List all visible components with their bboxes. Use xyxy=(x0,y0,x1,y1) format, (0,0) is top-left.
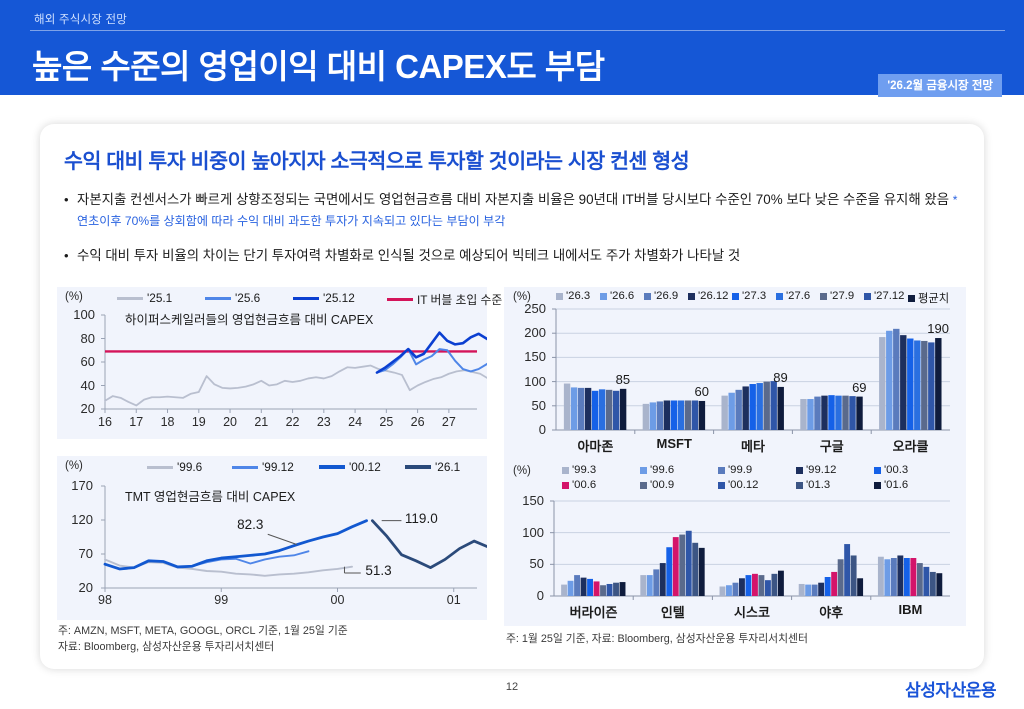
legend-label: '99.6 xyxy=(177,460,202,474)
x-axis-tick: 01 xyxy=(442,593,466,607)
status-badge: '26.2월 금융시장 전망 xyxy=(878,74,1002,97)
legend-label: 평균치 xyxy=(918,290,949,306)
y-axis-tick: 150 xyxy=(510,493,544,508)
legend-label: '26.6 xyxy=(610,290,634,302)
legend-item: '99.12 xyxy=(796,464,836,476)
legend-swatch-icon xyxy=(874,482,881,489)
y-axis-tick: 100 xyxy=(512,374,546,389)
header-kicker: 해외 주식시장 전망 xyxy=(34,11,127,27)
x-axis-tick: 25 xyxy=(374,415,398,429)
page-number: 12 xyxy=(0,681,1024,693)
chart-bigtech-capex-bars: (%) '26.3'26.6'26.9'26.12'27.3'27.6'27.9… xyxy=(504,287,966,462)
bar-value-label: 60 xyxy=(685,384,719,399)
legend-swatch-icon xyxy=(820,293,827,300)
x-axis-tick: 98 xyxy=(93,593,117,607)
x-axis-tick: 27 xyxy=(437,415,461,429)
legend-label: '99.12 xyxy=(262,460,294,474)
y-axis-tick: 60 xyxy=(61,354,95,369)
page-title: 높은 수준의 영업이익 대비 CAPEX도 부담 xyxy=(32,40,605,88)
legend-swatch-icon xyxy=(556,293,563,300)
legend-swatch-icon xyxy=(147,466,173,469)
bullet-text-main: 자본지출 컨센서스가 빠르게 상향조정되는 국면에서도 영업현금흐름 대비 자본… xyxy=(77,192,953,207)
bullet-marker: • xyxy=(64,190,69,210)
legend-label: '27.9 xyxy=(830,290,854,302)
bar-value-label: 69 xyxy=(842,380,876,395)
legend-item: '01.3 xyxy=(796,479,830,491)
legend-item: '99.6 xyxy=(147,460,202,474)
x-axis-tick: 20 xyxy=(218,415,242,429)
x-axis-category: 오라클 xyxy=(871,436,950,455)
legend-swatch-icon xyxy=(718,482,725,489)
legend-label: IT 버블 초입 수준 xyxy=(417,291,502,308)
legend-item: '99.12 xyxy=(232,460,294,474)
legend-label: '99.3 xyxy=(572,464,596,476)
legend-item: '26.9 xyxy=(644,290,678,302)
y-axis-tick: 100 xyxy=(510,525,544,540)
legend-item: IT 버블 초입 수준 xyxy=(387,291,502,308)
x-axis-tick: 00 xyxy=(326,593,350,607)
x-axis-category: 메타 xyxy=(714,436,793,455)
bar-value-label: 85 xyxy=(606,372,640,387)
chart-title: TMT 영업현금흐름 대비 CAPEX xyxy=(125,486,295,505)
x-axis-tick: 26 xyxy=(406,415,430,429)
y-axis-tick: 70 xyxy=(59,546,93,561)
legend-label: '26.1 xyxy=(435,460,460,474)
chart-tmt-capex: (%) '99.6'99.12'00.12'26.1 TMT 영업현금흐름 대비… xyxy=(57,456,487,620)
y-axis-unit: (%) xyxy=(65,291,83,303)
legend-item: '00.9 xyxy=(640,479,674,491)
bullet-text: 수익 대비 투자 비율의 차이는 단기 투자여력 차별화로 인식될 것으로 예상… xyxy=(77,246,964,267)
legend-label: '27.6 xyxy=(786,290,810,302)
x-axis-category: 버라이즌 xyxy=(554,602,633,621)
x-axis-tick: 17 xyxy=(124,415,148,429)
x-axis-tick: 18 xyxy=(156,415,180,429)
legend-swatch-icon xyxy=(688,293,695,300)
x-axis-category: 구글 xyxy=(792,436,871,455)
x-axis-category: 야후 xyxy=(792,602,871,621)
legend-label: '01.3 xyxy=(806,479,830,491)
legend-label: '99.6 xyxy=(650,464,674,476)
x-axis-tick: 19 xyxy=(187,415,211,429)
x-axis-tick: 24 xyxy=(343,415,367,429)
x-axis-tick: 16 xyxy=(93,415,117,429)
y-axis-tick: 120 xyxy=(59,512,93,527)
legend-label: '26.3 xyxy=(566,290,590,302)
legend-swatch-icon xyxy=(644,293,651,300)
y-axis-tick: 170 xyxy=(59,478,93,493)
legend-item: '26.1 xyxy=(405,460,460,474)
legend-item: '27.6 xyxy=(776,290,810,302)
data-label-82: 82.3 xyxy=(237,517,263,532)
x-axis-tick: 21 xyxy=(249,415,273,429)
legend-swatch-icon xyxy=(293,297,319,300)
legend-item: '01.6 xyxy=(874,479,908,491)
legend-label: '99.12 xyxy=(806,464,836,476)
chart-title: 하이퍼스케일러들의 영업현금흐름 대비 CAPEX xyxy=(125,309,373,328)
legend-swatch-icon xyxy=(600,293,607,300)
legend-swatch-icon xyxy=(718,467,725,474)
legend-item: 평균치 xyxy=(908,290,949,306)
bullet-text-main: 수익 대비 투자 비율의 차이는 단기 투자여력 차별화로 인식될 것으로 예상… xyxy=(77,248,740,263)
y-axis-tick: 100 xyxy=(61,307,95,322)
legend-swatch-icon xyxy=(864,293,871,300)
legend-swatch-icon xyxy=(405,465,431,469)
bullet-text: 자본지출 컨센서스가 빠르게 상향조정되는 국면에서도 영업현금흐름 대비 자본… xyxy=(77,190,964,232)
legend-label: '00.12 xyxy=(349,460,381,474)
legend-swatch-icon xyxy=(796,482,803,489)
legend-item: '27.9 xyxy=(820,290,854,302)
legend-item: '26.3 xyxy=(556,290,590,302)
legend-label: '27.12 xyxy=(874,290,904,302)
x-axis-tick: 99 xyxy=(209,593,233,607)
legend-label: '25.1 xyxy=(147,291,172,305)
section-headline: 수익 대비 투자 비중이 높아지자 소극적으로 투자할 것이라는 시장 컨센 형… xyxy=(64,144,689,174)
legend-swatch-icon xyxy=(205,297,231,300)
legend-label: '00.12 xyxy=(728,479,758,491)
bullet-marker: • xyxy=(64,246,69,266)
data-label-51: 51.3 xyxy=(365,563,391,578)
legend-item: '00.3 xyxy=(874,464,908,476)
y-axis-unit: (%) xyxy=(65,460,83,472)
legend-item: '99.9 xyxy=(718,464,752,476)
x-axis-category: 아마존 xyxy=(556,436,635,455)
chart-hyperscaler-capex: (%) '25.1'25.6'25.12IT 버블 초입 수준 하이퍼스케일러들… xyxy=(57,287,487,439)
legend-item: '00.12 xyxy=(718,479,758,491)
legend-label: '26.12 xyxy=(698,290,728,302)
y-axis-tick: 200 xyxy=(512,325,546,340)
legend-swatch-icon xyxy=(640,482,647,489)
x-axis-category: IBM xyxy=(871,602,950,617)
legend-item: '27.3 xyxy=(732,290,766,302)
legend-swatch-icon xyxy=(796,467,803,474)
footnote-left: 주: AMZN, MSFT, META, GOOGL, ORCL 기준, 1월 … xyxy=(58,624,348,655)
legend-swatch-icon xyxy=(874,467,881,474)
y-axis-tick: 20 xyxy=(59,580,93,595)
footnote-right: 주: 1월 25일 기준, 자료: Bloomberg, 삼성자산운용 투자리서… xyxy=(506,632,808,648)
legend-label: '26.9 xyxy=(654,290,678,302)
legend-swatch-icon xyxy=(732,293,739,300)
legend-label: '00.3 xyxy=(884,464,908,476)
legend-swatch-icon xyxy=(640,467,647,474)
legend-item: '99.6 xyxy=(640,464,674,476)
legend-label: '27.3 xyxy=(742,290,766,302)
y-axis-tick: 50 xyxy=(512,398,546,413)
legend-label: '00.9 xyxy=(650,479,674,491)
y-axis-tick: 40 xyxy=(61,378,95,393)
legend-swatch-icon xyxy=(776,293,783,300)
legend-label: '25.6 xyxy=(235,291,260,305)
bullet-item: • 자본지출 컨센서스가 빠르게 상향조정되는 국면에서도 영업현금흐름 대비 … xyxy=(64,190,964,232)
content-card: 수익 대비 투자 비중이 높아지자 소극적으로 투자할 것이라는 시장 컨센 형… xyxy=(40,124,984,669)
y-axis-tick: 0 xyxy=(510,588,544,603)
y-axis-tick: 20 xyxy=(61,401,95,416)
legend-swatch-icon xyxy=(562,482,569,489)
legend-swatch-icon xyxy=(319,465,345,469)
legend-label: '01.6 xyxy=(884,479,908,491)
legend-item: '99.3 xyxy=(562,464,596,476)
x-axis-category: MSFT xyxy=(635,436,714,451)
slide-root: 해외 주식시장 전망 높은 수준의 영업이익 대비 CAPEX도 부담 '26.… xyxy=(0,0,1024,709)
legend-item: '00.12 xyxy=(319,460,381,474)
y-axis-tick: 50 xyxy=(510,556,544,571)
x-axis-tick: 23 xyxy=(312,415,336,429)
legend-swatch-icon xyxy=(908,295,915,302)
line-plot-area xyxy=(57,456,487,620)
legend-swatch-icon xyxy=(232,466,258,469)
y-axis-tick: 250 xyxy=(512,301,546,316)
legend-item: '27.12 xyxy=(864,290,904,302)
legend-item: '25.12 xyxy=(293,291,355,305)
y-axis-tick: 150 xyxy=(512,349,546,364)
legend-item: '26.12 xyxy=(688,290,728,302)
legend-item: '25.6 xyxy=(205,291,260,305)
bullet-item: • 수익 대비 투자 비율의 차이는 단기 투자여력 차별화로 인식될 것으로 … xyxy=(64,246,964,267)
legend-label: '25.12 xyxy=(323,291,355,305)
y-axis-tick: 80 xyxy=(61,331,95,346)
x-axis-category: 인텔 xyxy=(633,602,712,621)
slide-header: 해외 주식시장 전망 높은 수준의 영업이익 대비 CAPEX도 부담 '26.… xyxy=(0,0,1024,95)
legend-label: '99.9 xyxy=(728,464,752,476)
chart-itbubble-capex-bars: (%) '99.3'99.6'99.9'99.12'00.3'00.6'00.9… xyxy=(504,461,966,626)
y-axis-unit: (%) xyxy=(513,465,531,477)
legend-item: '25.1 xyxy=(117,291,172,305)
x-axis-tick: 22 xyxy=(281,415,305,429)
legend-item: '26.6 xyxy=(600,290,634,302)
x-axis-category: 시스코 xyxy=(712,602,791,621)
legend-label: '00.6 xyxy=(572,479,596,491)
legend-swatch-icon xyxy=(117,297,143,300)
legend-item: '00.6 xyxy=(562,479,596,491)
bar-value-label: 190 xyxy=(921,321,955,336)
bar-value-label: 89 xyxy=(764,370,798,385)
legend-swatch-icon xyxy=(387,298,413,301)
brand-logo: 삼성자산운용 xyxy=(905,676,996,701)
y-axis-tick: 0 xyxy=(512,422,546,437)
legend-swatch-icon xyxy=(562,467,569,474)
header-divider xyxy=(30,30,1005,31)
data-label-119: 119.0 xyxy=(405,511,438,526)
